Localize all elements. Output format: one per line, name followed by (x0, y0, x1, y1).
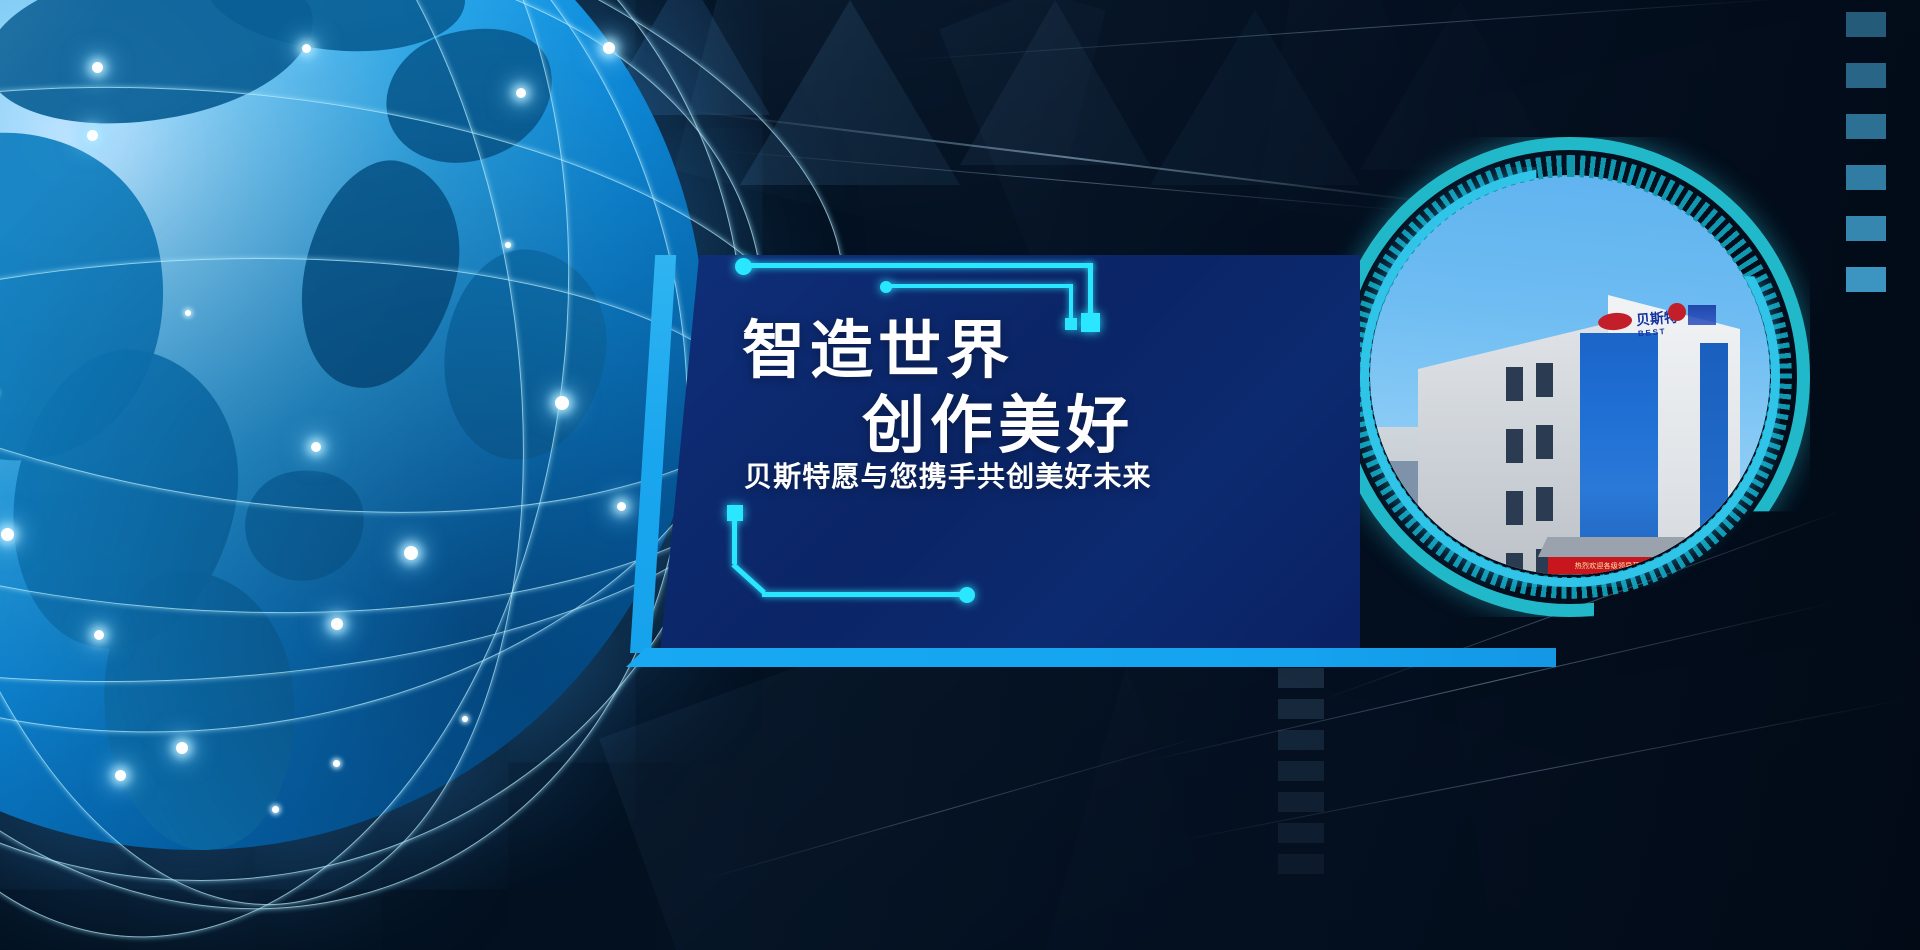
globe-node (555, 396, 569, 410)
circuit-trace-left-vertical (732, 518, 737, 564)
globe-node (115, 770, 126, 781)
globe-node (1, 528, 14, 541)
globe-node (603, 42, 615, 54)
panel-underline-bar (626, 648, 1556, 667)
circuit-trace-top-horizontal (748, 263, 1093, 268)
stack-bar (1846, 216, 1886, 241)
stack-bar (1846, 267, 1886, 292)
circular-photo-badge: 贝斯特 BEST 热烈欢迎各级领导莅临指导 (1370, 175, 1770, 575)
stack-bar (1846, 63, 1886, 88)
globe-node (87, 130, 98, 141)
circuit-node-square-small (1065, 318, 1077, 330)
network-node (92, 62, 103, 73)
stack-bar (1278, 730, 1324, 750)
stack-bar (1278, 792, 1324, 812)
stack-bar (1846, 165, 1886, 190)
network-node (516, 88, 526, 98)
subtitle-text: 贝斯特愿与您携手共创美好未来 (744, 455, 1152, 495)
globe-node (333, 760, 340, 767)
network-node (302, 44, 311, 53)
network-node (462, 716, 468, 722)
headline-line-2: 创作美好 (862, 375, 1134, 466)
circuit-trace-top-vertical (1088, 263, 1093, 315)
stack-bar (1846, 114, 1886, 139)
globe-node (185, 310, 191, 316)
globe-graphic (0, 0, 705, 850)
banner-stage: 贝斯特 BEST 热烈欢迎各级领导莅临指导 (0, 0, 1920, 950)
network-node (272, 806, 279, 813)
globe-node (505, 242, 511, 248)
network-node (176, 742, 188, 754)
circuit-trace-mid-horizontal (888, 284, 1073, 288)
globe-node (311, 442, 321, 452)
stack-bar (1846, 12, 1886, 37)
globe-node (617, 502, 626, 511)
circuit-node-square-large (1081, 313, 1100, 332)
center-bottom-bar-stack (1278, 668, 1324, 874)
stack-bar (1278, 699, 1324, 719)
circuit-trace-bottom-horizontal (762, 592, 965, 597)
circuit-dot-bottom-right (959, 587, 975, 603)
globe-node (331, 618, 343, 630)
right-edge-bar-stack (1846, 12, 1886, 292)
network-node (94, 630, 104, 640)
stack-bar (1278, 854, 1324, 874)
stack-bar (1278, 761, 1324, 781)
network-node (404, 546, 418, 560)
circuit-trace-mid-vertical (1069, 284, 1073, 320)
stack-bar (1278, 823, 1324, 843)
stack-bar (1278, 668, 1324, 688)
